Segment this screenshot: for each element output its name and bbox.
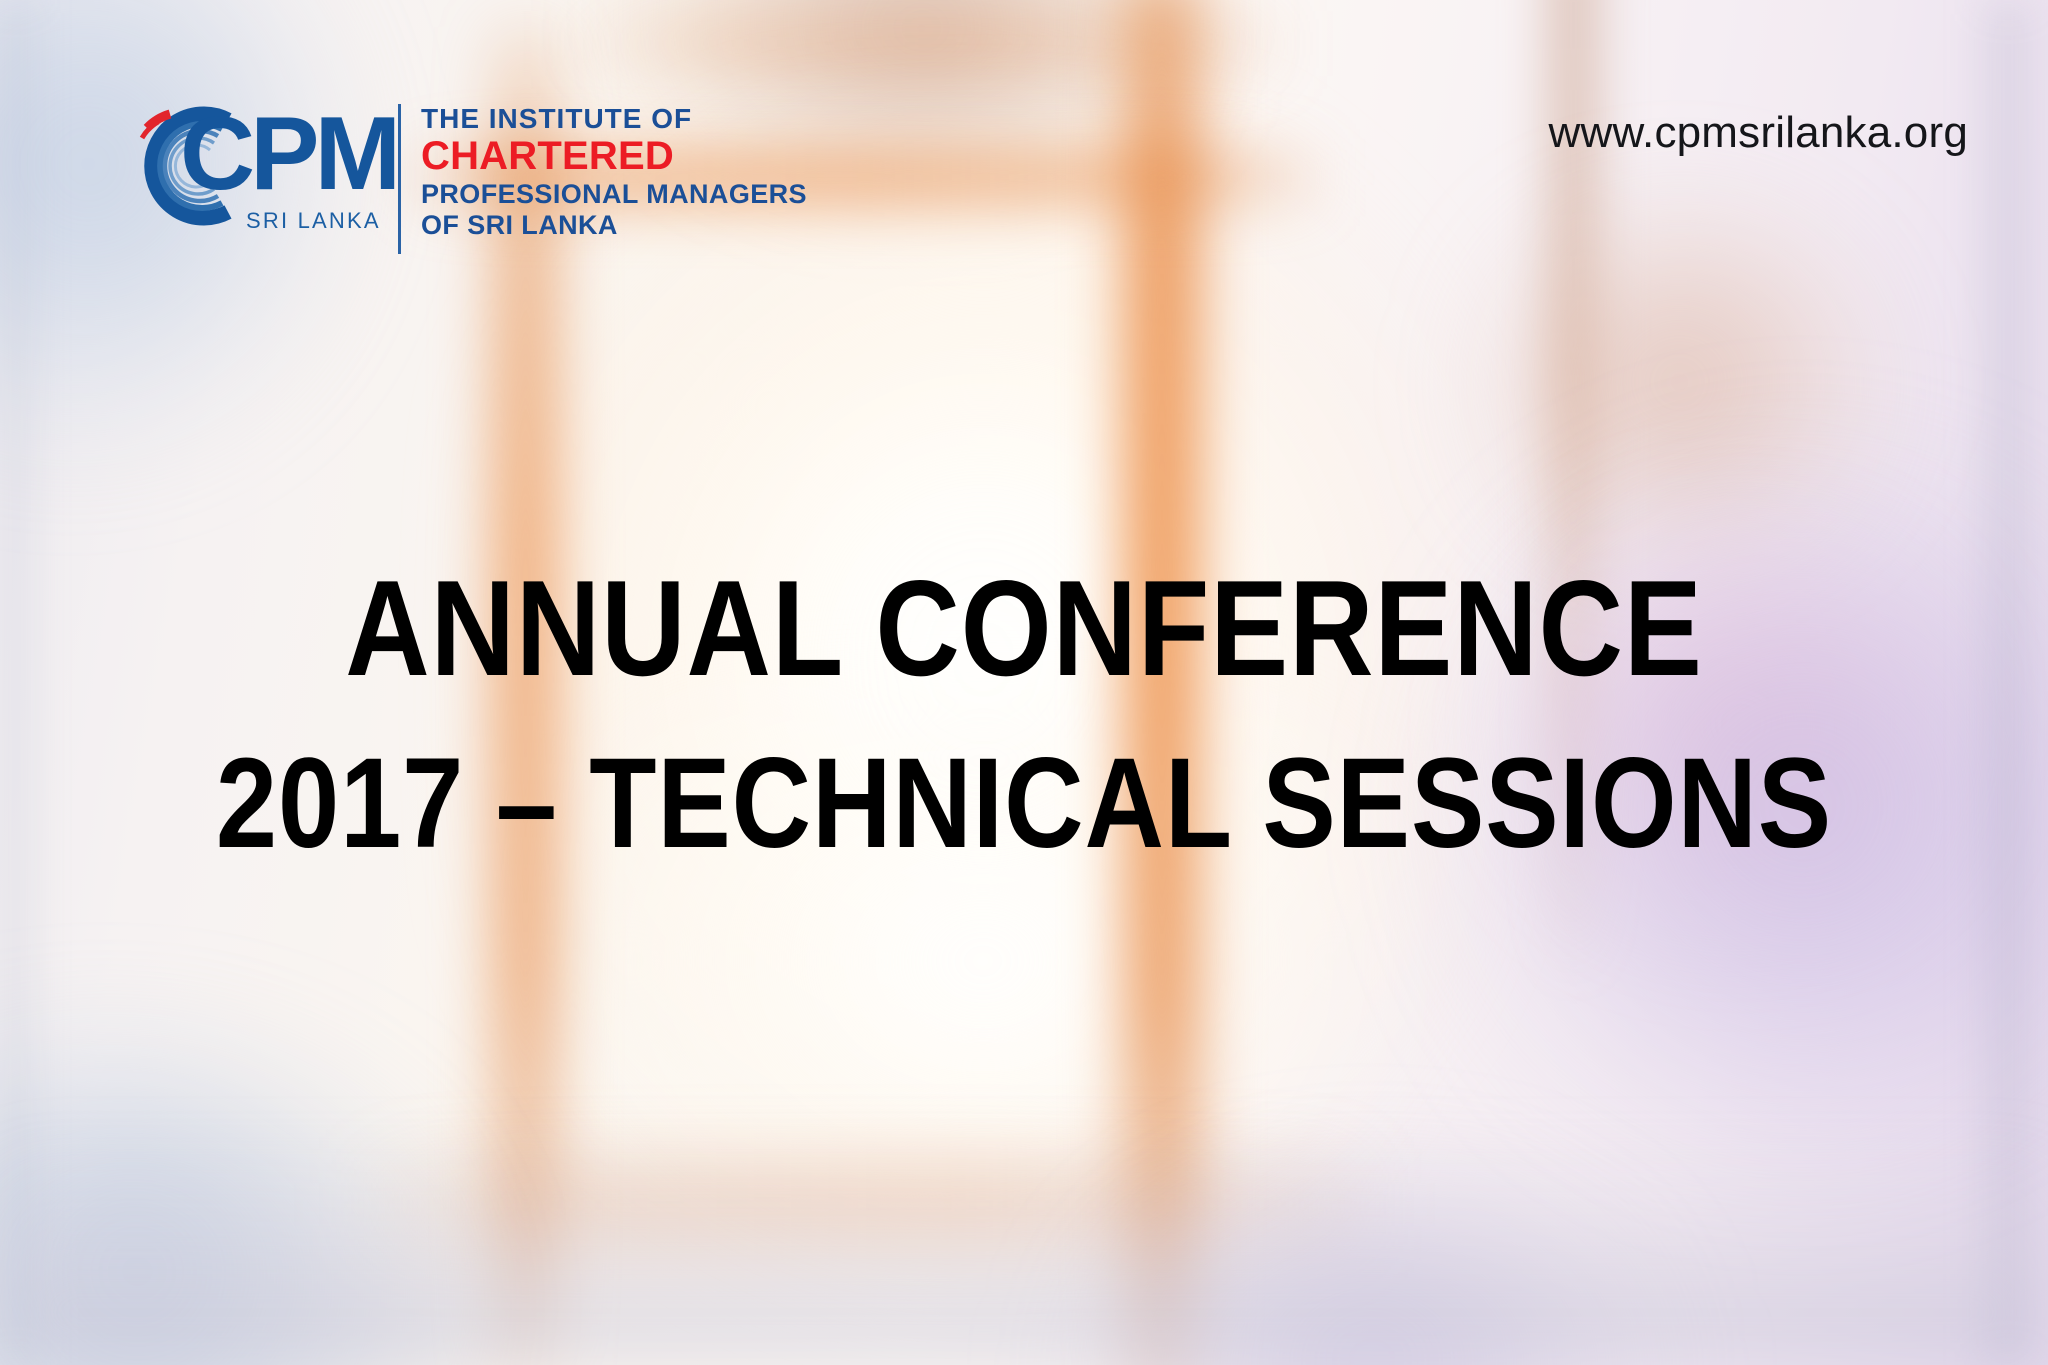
background-floor-band [0, 1147, 2048, 1365]
logo-line-professional-managers: PROFESSIONAL MANAGERS [421, 180, 807, 209]
cpm-logo: CPM SRI LANKA THE INSTITUTE OF CHARTERED… [118, 98, 807, 260]
logo-divider [398, 104, 401, 254]
website-url[interactable]: www.cpmsrilanka.org [1549, 108, 1968, 158]
page-title: ANNUAL CONFERENCE [143, 560, 1904, 696]
logo-text-block: THE INSTITUTE OF CHARTERED PROFESSIONAL … [421, 98, 807, 239]
logo-line-institute: THE INSTITUTE OF [421, 104, 807, 134]
title-block: ANNUAL CONFERENCE 2017 – TECHNICAL SESSI… [0, 560, 2048, 868]
cpm-wordmark-subtext: SRI LANKA [246, 210, 381, 232]
logo-line-of-sri-lanka: OF SRI LANKA [421, 211, 807, 240]
cpm-logo-mark: CPM SRI LANKA [118, 98, 390, 238]
page-subtitle: 2017 – TECHNICAL SESSIONS [143, 740, 1904, 868]
logo-line-chartered: CHARTERED [421, 135, 807, 177]
slide-canvas: CPM SRI LANKA THE INSTITUTE OF CHARTERED… [0, 0, 2048, 1365]
cpm-wordmark: CPM [180, 102, 396, 206]
